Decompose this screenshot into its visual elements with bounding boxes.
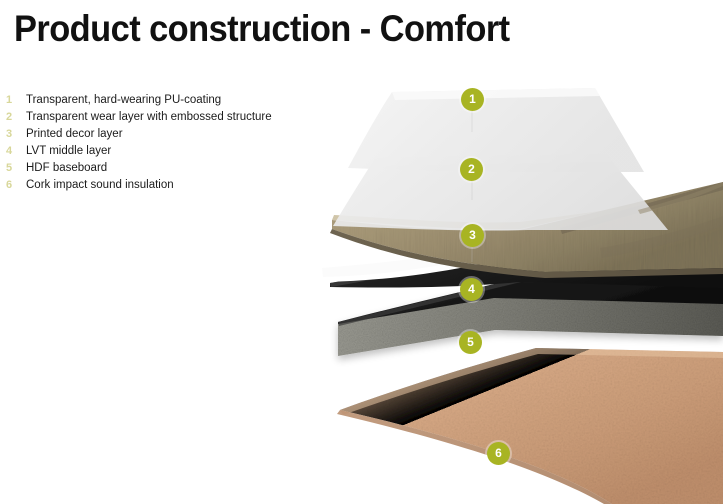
legend-item-3: 3 Printed decor layer [4, 126, 334, 143]
legend-number-1: 1 [4, 92, 26, 109]
legend-item-2: 2 Transparent wear layer with embossed s… [4, 109, 334, 126]
legend-label-6: Cork impact sound insulation [26, 177, 174, 194]
legend-label-2: Transparent wear layer with embossed str… [26, 109, 272, 126]
page-title: Product construction - Comfort [14, 6, 510, 52]
legend-list: 1 Transparent, hard-wearing PU-coating 2… [4, 92, 334, 194]
exploded-layer-diagram [0, 0, 723, 504]
legend-item-6: 6 Cork impact sound insulation [4, 177, 334, 194]
legend-number-6: 6 [4, 177, 26, 194]
layer-decor-wood [330, 182, 723, 278]
callout-badge-3[interactable]: 3 [461, 224, 484, 247]
legend-label-5: HDF baseboard [26, 160, 107, 177]
callout-badge-4[interactable]: 4 [460, 278, 483, 301]
callout-badge-1[interactable]: 1 [461, 88, 484, 111]
layer-lvt-middle [330, 244, 723, 288]
layer-pu-coating [348, 88, 644, 172]
legend-number-4: 4 [4, 143, 26, 160]
layer-wear [333, 154, 668, 231]
layer-decor-wood-right-overhang [638, 182, 723, 214]
legend-item-1: 1 Transparent, hard-wearing PU-coating [4, 92, 334, 109]
legend-label-3: Printed decor layer [26, 126, 123, 143]
product-construction-infographic: 1 2 3 4 5 6 Product construction - Comfo… [0, 0, 723, 504]
legend-number-5: 5 [4, 160, 26, 177]
layer-hdf-baseboard [338, 278, 723, 356]
legend-label-1: Transparent, hard-wearing PU-coating [26, 92, 221, 109]
legend-item-5: 5 HDF baseboard [4, 160, 334, 177]
layer-cork-insulation [337, 348, 723, 504]
callout-badge-2[interactable]: 2 [460, 158, 483, 181]
callout-badge-6[interactable]: 6 [487, 442, 510, 465]
legend-number-3: 3 [4, 126, 26, 143]
callout-badge-5[interactable]: 5 [459, 331, 482, 354]
legend-label-4: LVT middle layer [26, 143, 111, 160]
legend-number-2: 2 [4, 109, 26, 126]
legend-item-4: 4 LVT middle layer [4, 143, 334, 160]
layer-gap-sliver [322, 248, 560, 282]
